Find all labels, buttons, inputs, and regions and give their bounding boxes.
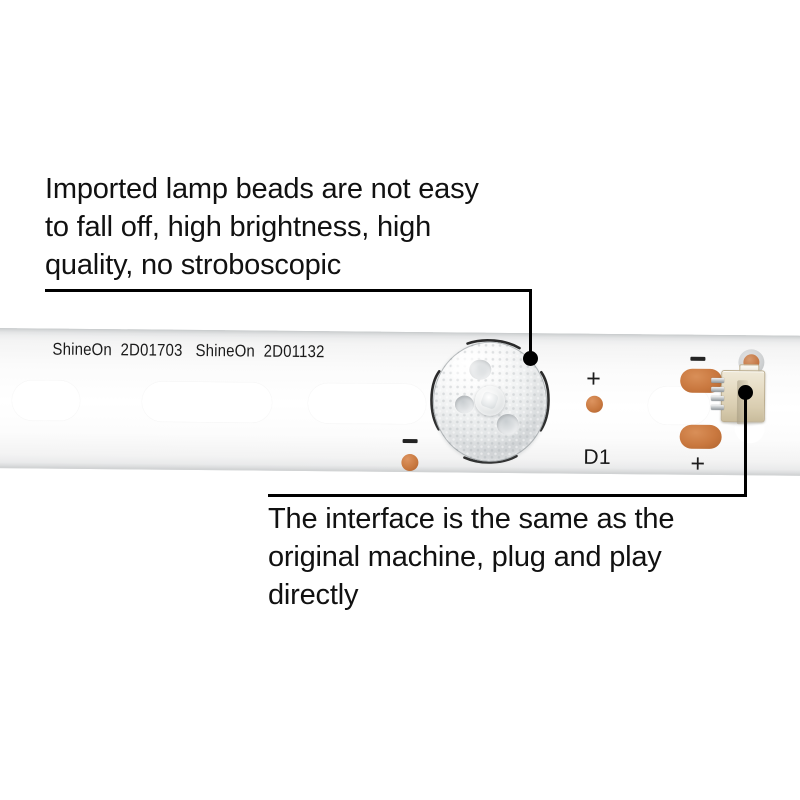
connector-pin: [711, 387, 724, 392]
led-backlight-strip: ShineOn 2D01703 ShineOn 2D01132 + + D1: [0, 328, 800, 476]
mounting-cutout: [142, 381, 272, 422]
led-pad-negative: [401, 454, 418, 471]
led-pad-positive: [586, 396, 603, 413]
silkscreen-label: ShineOn 2D01703 ShineOn 2D01132: [52, 340, 324, 363]
minus-sign-icon: [690, 357, 705, 361]
callout-text-lamp-beads: Imported lamp beads are not easy to fall…: [45, 170, 565, 284]
reference-designator-label: D1: [583, 446, 611, 470]
callout-leader-line-horizontal: [45, 289, 532, 292]
connector-pin: [711, 396, 724, 401]
mounting-cutout: [12, 380, 80, 421]
plus-sign-icon: +: [690, 452, 705, 477]
plus-sign-icon: +: [586, 367, 601, 392]
minus-sign-icon: [403, 439, 418, 443]
solder-pad-positive: [680, 425, 722, 449]
callout-leader-line-vertical: [744, 392, 747, 496]
connector-pin: [711, 405, 724, 410]
callout-leader-line-vertical: [529, 289, 532, 355]
callout-target-dot: [523, 351, 538, 366]
product-photo: ShineOn 2D01703 ShineOn 2D01132 + + D1: [0, 300, 800, 500]
mounting-cutout: [308, 383, 426, 424]
connector-pins: [711, 378, 724, 414]
callout-text-interface: The interface is the same as the origina…: [268, 500, 748, 614]
connector-pin: [711, 378, 724, 383]
callout-leader-line-horizontal: [268, 494, 747, 497]
